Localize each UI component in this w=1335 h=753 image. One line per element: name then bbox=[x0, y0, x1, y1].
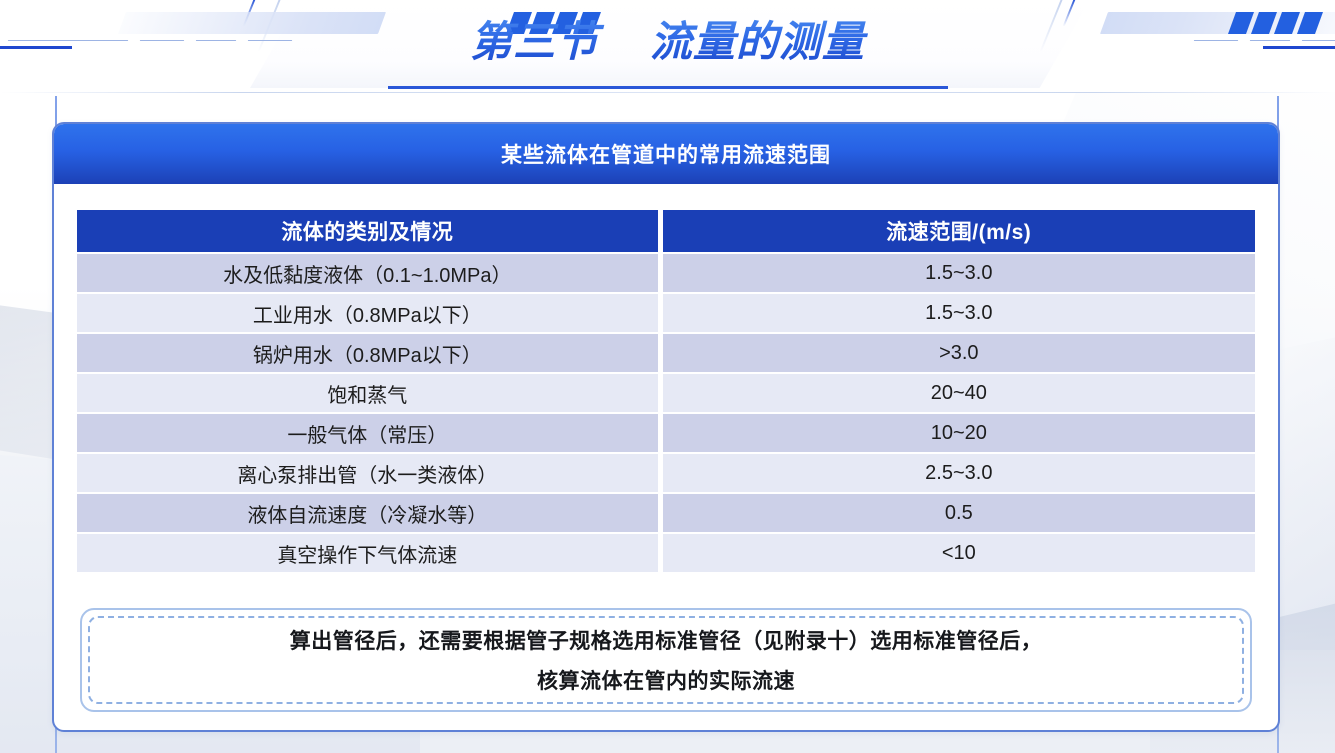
cell-velocity: 20~40 bbox=[663, 374, 1255, 412]
flow-velocity-table: 流体的类别及情况 流速范围/(m/s) 水及低黏度液体（0.1~1.0MPa） … bbox=[72, 208, 1260, 574]
cell-fluid-type: 液体自流速度（冷凝水等） bbox=[77, 494, 658, 532]
table-body: 水及低黏度液体（0.1~1.0MPa） 1.5~3.0 工业用水（0.8MPa以… bbox=[77, 254, 1255, 572]
column-header-fluid-type: 流体的类别及情况 bbox=[77, 210, 658, 252]
cell-fluid-type: 工业用水（0.8MPa以下） bbox=[77, 294, 658, 332]
table-row: 真空操作下气体流速 <10 bbox=[77, 534, 1255, 572]
header-hairline-icon bbox=[0, 92, 1335, 93]
cell-fluid-type: 饱和蒸气 bbox=[77, 374, 658, 412]
cell-velocity: 2.5~3.0 bbox=[663, 454, 1255, 492]
table-container: 流体的类别及情况 流速范围/(m/s) 水及低黏度液体（0.1~1.0MPa） … bbox=[72, 208, 1260, 574]
slide-header: 第三节 流量的测量 bbox=[0, 0, 1335, 96]
slide-root: 第三节 流量的测量 某些流体在管道中的常用流速范围 流体的类别及情况 流速范围/… bbox=[0, 0, 1335, 753]
title-underline-icon bbox=[388, 86, 948, 89]
cell-velocity: 1.5~3.0 bbox=[663, 294, 1255, 332]
card-header-title: 某些流体在管道中的常用流速范围 bbox=[54, 124, 1278, 184]
cell-fluid-type: 离心泵排出管（水一类液体） bbox=[77, 454, 658, 492]
table-row: 水及低黏度液体（0.1~1.0MPa） 1.5~3.0 bbox=[77, 254, 1255, 292]
note-box: 算出管径后，还需要根据管子规格选用标准管径（见附录十）选用标准管径后， 核算流体… bbox=[80, 608, 1252, 712]
cell-velocity: >3.0 bbox=[663, 334, 1255, 372]
cell-fluid-type: 锅炉用水（0.8MPa以下） bbox=[77, 334, 658, 372]
cell-velocity: <10 bbox=[663, 534, 1255, 572]
table-row: 液体自流速度（冷凝水等） 0.5 bbox=[77, 494, 1255, 532]
table-row: 饱和蒸气 20~40 bbox=[77, 374, 1255, 412]
cell-fluid-type: 一般气体（常压） bbox=[77, 414, 658, 452]
table-row: 工业用水（0.8MPa以下） 1.5~3.0 bbox=[77, 294, 1255, 332]
cell-fluid-type: 真空操作下气体流速 bbox=[77, 534, 658, 572]
cell-velocity: 10~20 bbox=[663, 414, 1255, 452]
note-line-1: 算出管径后，还需要根据管子规格选用标准管径（见附录十）选用标准管径后， bbox=[290, 625, 1043, 655]
cell-velocity: 1.5~3.0 bbox=[663, 254, 1255, 292]
table-header-row: 流体的类别及情况 流速范围/(m/s) bbox=[77, 210, 1255, 252]
table-head: 流体的类别及情况 流速范围/(m/s) bbox=[77, 210, 1255, 252]
cell-velocity: 0.5 bbox=[663, 494, 1255, 532]
column-header-velocity-range: 流速范围/(m/s) bbox=[663, 210, 1255, 252]
note-box-inner: 算出管径后，还需要根据管子规格选用标准管径（见附录十）选用标准管径后， 核算流体… bbox=[88, 616, 1244, 704]
content-card: 某些流体在管道中的常用流速范围 流体的类别及情况 流速范围/(m/s) 水及低黏… bbox=[52, 122, 1280, 732]
table-row: 离心泵排出管（水一类液体） 2.5~3.0 bbox=[77, 454, 1255, 492]
page-title: 第三节 流量的测量 bbox=[0, 8, 1335, 69]
table-row: 一般气体（常压） 10~20 bbox=[77, 414, 1255, 452]
cell-fluid-type: 水及低黏度液体（0.1~1.0MPa） bbox=[77, 254, 658, 292]
table-row: 锅炉用水（0.8MPa以下） >3.0 bbox=[77, 334, 1255, 372]
note-line-2: 核算流体在管内的实际流速 bbox=[537, 665, 795, 695]
